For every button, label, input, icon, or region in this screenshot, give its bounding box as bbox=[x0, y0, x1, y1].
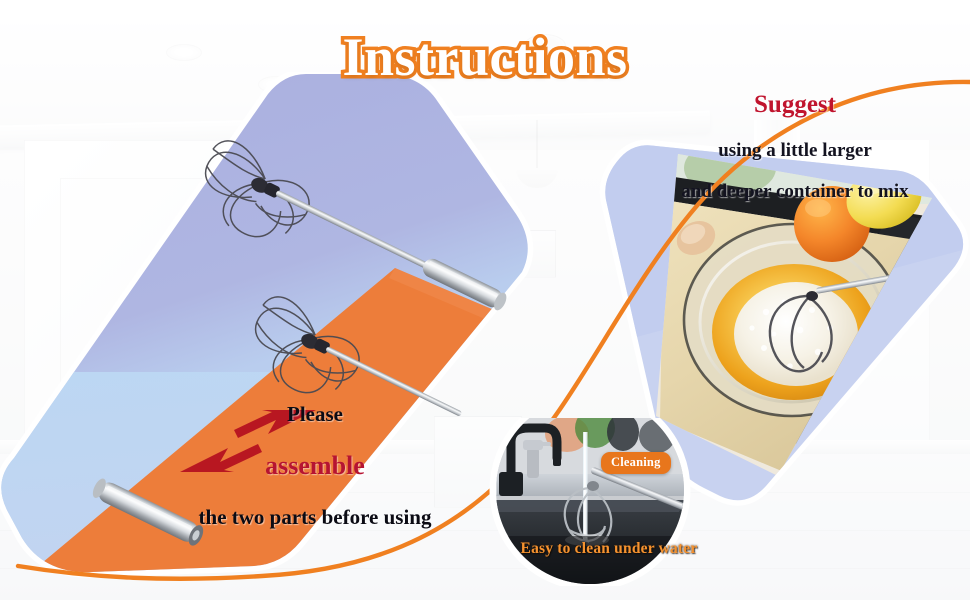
assembly-line-3: the two parts before using bbox=[150, 507, 480, 528]
assembly-line-1: Please bbox=[150, 404, 480, 425]
suggestion-line-1: Suggest bbox=[620, 92, 970, 117]
cleaning-demo-photo bbox=[471, 418, 709, 586]
cleaning-sink-lip bbox=[495, 500, 685, 512]
suggestion-line-2: using a little larger bbox=[620, 141, 970, 160]
cleaning-badge: Cleaning bbox=[601, 452, 671, 474]
instructions-infographic: Cleaning Easy to clean under water Instr… bbox=[0, 0, 970, 600]
assembly-text-block: Please assemble the two parts before usi… bbox=[150, 404, 480, 528]
suggestion-text-block: Suggest using a little larger and deeper… bbox=[620, 92, 970, 201]
suggestion-line-3: and deeper container to mix bbox=[620, 182, 970, 201]
page-title: Instructions bbox=[0, 26, 970, 88]
page-title-text: Instructions bbox=[342, 26, 627, 88]
cleaning-water-highlight bbox=[584, 432, 586, 540]
cleaning-caption: Easy to clean under water bbox=[519, 540, 699, 558]
assembly-line-2: assemble bbox=[150, 453, 480, 479]
